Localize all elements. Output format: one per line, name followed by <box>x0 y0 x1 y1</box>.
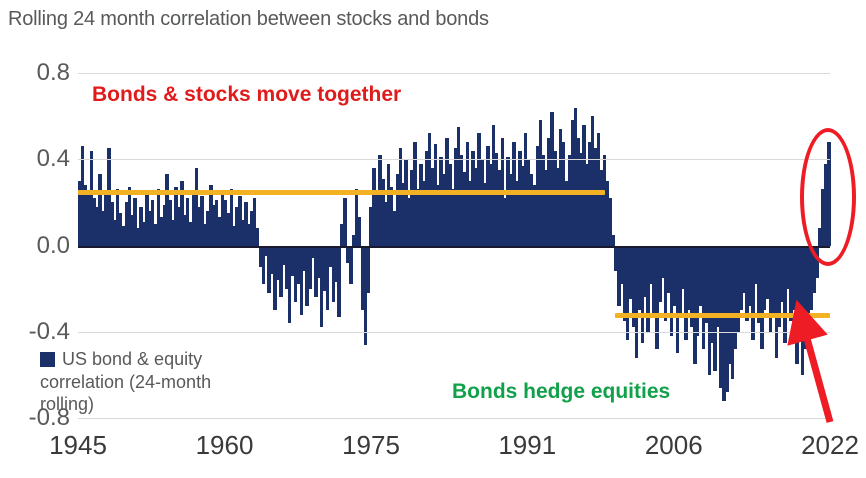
x-tick-label: 2022 <box>801 430 859 461</box>
bar <box>337 246 341 317</box>
gridline <box>78 418 830 419</box>
bar <box>256 228 260 245</box>
x-tick-label: 1960 <box>196 430 254 461</box>
y-tick-label: 0.0 <box>37 232 70 260</box>
gridline <box>78 159 830 160</box>
y-tick-label: 0.4 <box>37 145 70 173</box>
chart-title: Rolling 24 month correlation between sto… <box>8 8 489 31</box>
bar <box>358 217 362 245</box>
bar <box>611 235 615 246</box>
annotation-bonds-stocks-move-together: Bonds & stocks move together <box>92 83 401 107</box>
x-tick-label: 2006 <box>645 430 703 461</box>
bar <box>367 246 371 293</box>
red-arrow-icon <box>780 300 860 430</box>
chart-container: Rolling 24 month correlation between sto… <box>0 0 866 478</box>
legend: US bond & equity correlation (24-month r… <box>40 348 270 416</box>
bar <box>343 198 347 245</box>
x-tick-label: 1945 <box>49 430 107 461</box>
zero-line <box>78 246 830 248</box>
highlight-ellipse-icon <box>800 128 856 266</box>
legend-label: US bond & equity correlation (24-month r… <box>40 349 211 414</box>
gridline <box>78 73 830 74</box>
reference-line <box>78 190 605 195</box>
y-tick-label: -0.4 <box>29 318 70 346</box>
gridline <box>78 332 830 333</box>
annotation-bonds-hedge-equities: Bonds hedge equities <box>452 380 670 404</box>
x-tick-label: 1975 <box>342 430 400 461</box>
y-tick-label: 0.8 <box>37 59 70 87</box>
x-tick-label: 1991 <box>498 430 556 461</box>
bar <box>349 246 353 285</box>
legend-swatch-icon <box>40 352 55 367</box>
